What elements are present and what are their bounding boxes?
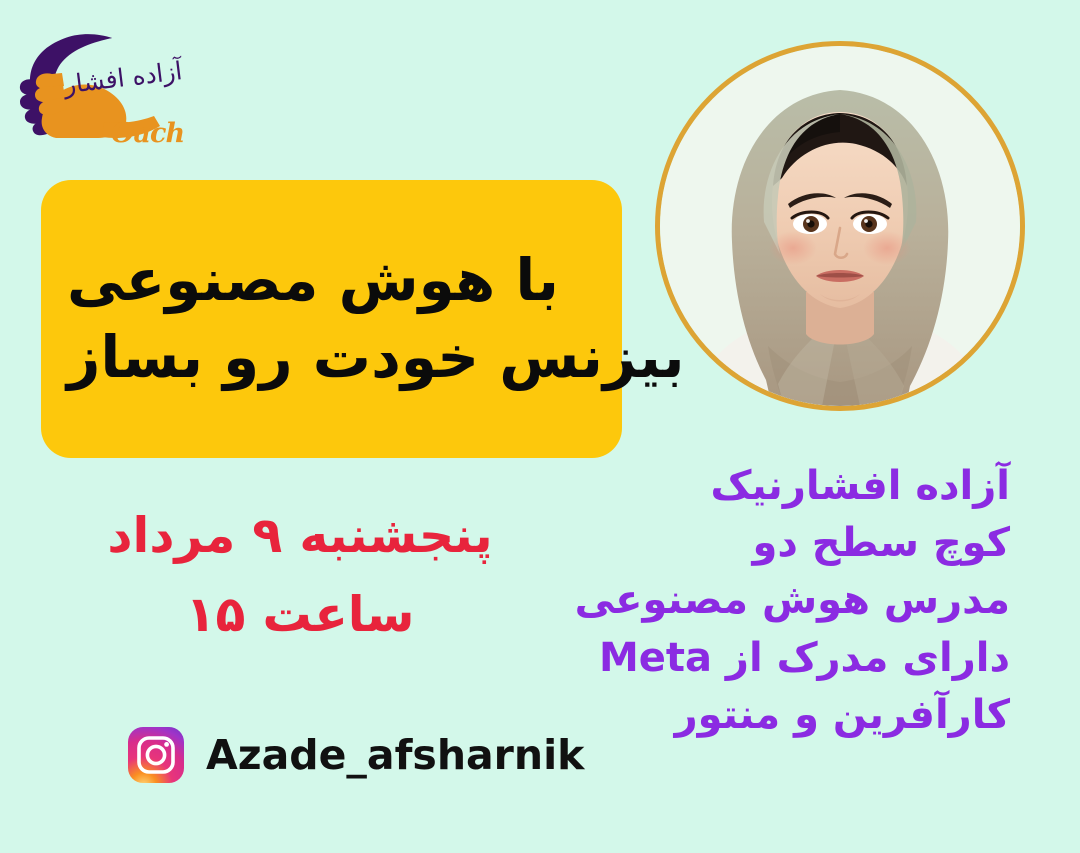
event-date: پنجشنبه ۹ مرداد <box>60 496 540 575</box>
instagram-contact[interactable]: Azade_afsharnik <box>128 727 584 783</box>
headline-line-2: بیزنس خودت رو بساز <box>67 319 685 396</box>
credential-coach-level: کوچ سطح دو <box>590 515 1010 572</box>
brand-logo: آزاده افشار Oach <box>8 18 188 148</box>
event-datetime: پنجشنبه ۹ مرداد ساعت ۱۵ <box>60 496 540 655</box>
credential-instructor: مدرس هوش مصنوعی <box>590 572 1010 629</box>
presenter-credentials: آزاده افشارنیک کوچ سطح دو مدرس هوش مصنوع… <box>590 458 1010 744</box>
portrait-photo <box>660 46 1020 406</box>
credential-name: آزاده افشارنیک <box>590 458 1010 515</box>
headline-banner: با هوش مصنوعی بیزنس خودت رو بساز <box>41 180 622 458</box>
logo-wordmark: Oach <box>111 118 184 149</box>
instagram-handle[interactable]: Azade_afsharnik <box>206 731 584 779</box>
headline-line-1: با هوش مصنوعی <box>67 242 559 319</box>
presenter-portrait <box>655 41 1025 411</box>
promotional-poster: آزاده افشار Oach با هوش مصنوعی بیزنس خود… <box>0 0 1080 853</box>
event-time: ساعت ۱۵ <box>60 575 540 654</box>
credential-entrepreneur: کارآفرین و منتور <box>590 687 1010 744</box>
credential-meta-cert: دارای مدرک از Meta <box>590 630 1010 687</box>
instagram-icon[interactable] <box>128 727 184 783</box>
